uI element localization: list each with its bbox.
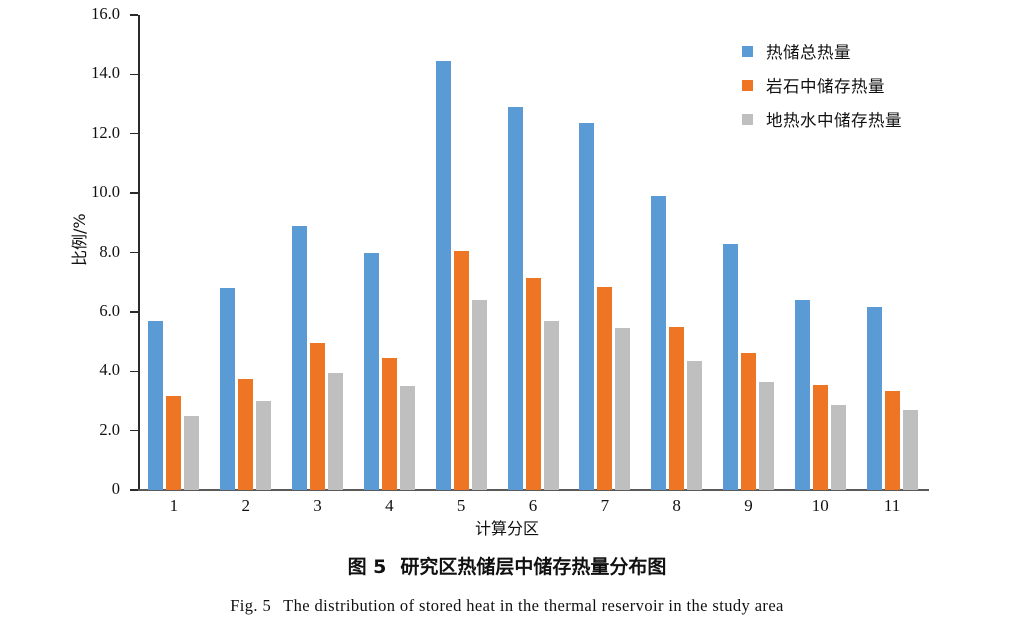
bar (220, 288, 235, 490)
x-axis-tick-label: 9 (718, 496, 778, 516)
x-axis-tick-label: 11 (862, 496, 922, 516)
bar (741, 353, 756, 490)
y-axis-tick-label: 0 (0, 479, 120, 499)
bar (238, 379, 253, 490)
legend-swatch-icon (742, 114, 753, 125)
legend-swatch-icon (742, 46, 753, 57)
legend-label: 地热水中储存热量 (766, 107, 902, 131)
bar (544, 321, 559, 490)
bar (687, 361, 702, 490)
y-axis-tick-label: 4.0 (0, 360, 120, 380)
figure-number-english: Fig. 5 (230, 596, 271, 615)
legend-item: 热储总热量 (742, 34, 902, 68)
x-axis-tick-label: 8 (647, 496, 707, 516)
bar (867, 307, 882, 490)
bar (256, 401, 271, 490)
bar (472, 300, 487, 490)
y-axis-tick-label: 6.0 (0, 301, 120, 321)
y-axis-tick-label: 16.0 (0, 4, 120, 24)
figure-number-chinese: 图 5 (348, 556, 387, 578)
bar (579, 123, 594, 490)
bar-group (364, 15, 415, 490)
y-axis-tick (130, 489, 138, 490)
y-axis-tick (130, 133, 138, 134)
bar (526, 278, 541, 490)
bar (166, 396, 181, 490)
bar (292, 226, 307, 490)
bar (328, 373, 343, 490)
legend-item: 岩石中储存热量 (742, 68, 902, 102)
bar (382, 358, 397, 490)
figure-caption-chinese-text: 研究区热储层中储存热量分布图 (400, 556, 666, 578)
bar (795, 300, 810, 490)
y-axis-title: 比例/% (66, 226, 90, 266)
bar (184, 416, 199, 490)
y-axis-tick-label: 2.0 (0, 420, 120, 440)
bar-group (579, 15, 630, 490)
chart-legend: 热储总热量岩石中储存热量地热水中储存热量 (742, 34, 902, 136)
y-axis-tick (130, 192, 138, 193)
figure-caption-english-text: The distribution of stored heat in the t… (283, 596, 784, 615)
bar-group (508, 15, 559, 490)
bar (364, 253, 379, 491)
legend-item: 地热水中储存热量 (742, 102, 902, 136)
bar (148, 321, 163, 490)
bar (454, 251, 469, 490)
x-axis-title: 计算分区 (0, 515, 1014, 539)
bar (508, 107, 523, 490)
figure-container: 02.04.06.08.010.012.014.016.0 比例/% 12345… (0, 0, 1014, 625)
bar (723, 244, 738, 490)
y-axis-tick (130, 371, 138, 372)
bar (813, 385, 828, 490)
bar (310, 343, 325, 490)
bar (651, 196, 666, 490)
bar (615, 328, 630, 490)
y-axis-tick-label: 12.0 (0, 123, 120, 143)
x-axis-tick-label: 3 (288, 496, 348, 516)
y-axis-tick (130, 311, 138, 312)
bar-group (292, 15, 343, 490)
y-axis-tick (130, 74, 138, 75)
legend-swatch-icon (742, 80, 753, 91)
bar (885, 391, 900, 490)
bar-group (436, 15, 487, 490)
y-axis-tick (130, 252, 138, 253)
x-axis-tick-label: 2 (216, 496, 276, 516)
y-axis-tick-label: 10.0 (0, 182, 120, 202)
legend-label: 热储总热量 (766, 39, 851, 63)
bar (669, 327, 684, 490)
bar-group (220, 15, 271, 490)
figure-caption-english: Fig. 5The distribution of stored heat in… (0, 596, 1014, 616)
y-axis-tick-label: 14.0 (0, 63, 120, 83)
legend-label: 岩石中储存热量 (766, 73, 885, 97)
bar (597, 287, 612, 490)
bar (831, 405, 846, 490)
bar (436, 61, 451, 490)
bar (400, 386, 415, 490)
bar (903, 410, 918, 490)
figure-caption-chinese: 图 5研究区热储层中储存热量分布图 (0, 552, 1014, 579)
x-axis-tick-label: 5 (431, 496, 491, 516)
x-axis-tick-label: 7 (575, 496, 635, 516)
y-axis-tick (130, 14, 138, 15)
x-axis-tick-label: 1 (144, 496, 204, 516)
bar (759, 382, 774, 490)
x-axis-tick-label: 6 (503, 496, 563, 516)
y-axis-tick (130, 430, 138, 431)
bar-group (148, 15, 199, 490)
y-axis-tick-label: 8.0 (0, 242, 120, 262)
x-axis-tick-label: 4 (359, 496, 419, 516)
bar-group (651, 15, 702, 490)
x-axis-tick-label: 10 (790, 496, 850, 516)
